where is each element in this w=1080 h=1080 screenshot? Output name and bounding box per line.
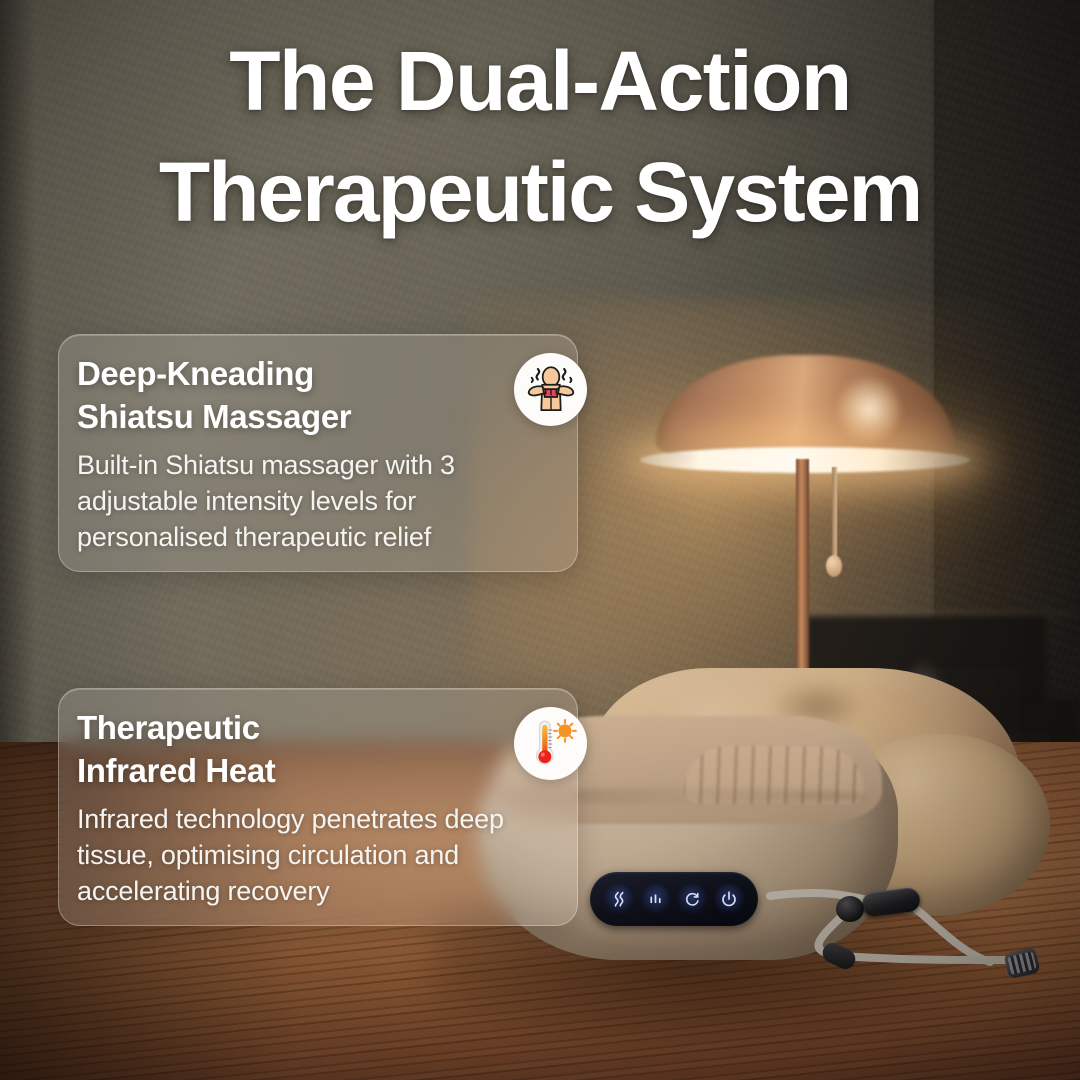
lamp-pull-knob <box>826 555 842 577</box>
lamp-pull-chain <box>832 467 837 563</box>
feature-card-shiatsu: Deep-Kneading Shiatsu Massager Built-in … <box>58 334 578 572</box>
card-title-line-1: Deep-Kneading <box>77 355 314 392</box>
thermometer-sun-icon <box>514 707 587 780</box>
feature-card-title: Deep-Kneading Shiatsu Massager <box>77 353 477 439</box>
feature-card-infrared: Therapeutic Infrared Heat Infrared techn… <box>58 688 578 926</box>
neck-shoulder-pain-icon <box>514 353 587 426</box>
lamp-shade-highlight <box>838 377 900 443</box>
feature-card-body: Built-in Shiatsu massager with 3 adjusta… <box>77 448 557 556</box>
page-title: The Dual-Action Therapeutic System <box>0 26 1080 248</box>
feature-card-title: Therapeutic Infrared Heat <box>77 707 477 793</box>
card-title-line-2: Shiatsu Massager <box>77 398 351 435</box>
headline-line-2: Therapeutic System <box>14 137 1066 248</box>
cord-toggle-knob <box>836 896 864 922</box>
product-feature-graphic: The Dual-Action Therapeutic System Deep-… <box>0 0 1080 1080</box>
card-title-line-2: Infrared Heat <box>77 752 275 789</box>
card-title-line-1: Therapeutic <box>77 709 260 746</box>
feature-card-body: Infrared technology penetrates deep tiss… <box>77 802 557 910</box>
headline-line-1: The Dual-Action <box>229 34 851 128</box>
